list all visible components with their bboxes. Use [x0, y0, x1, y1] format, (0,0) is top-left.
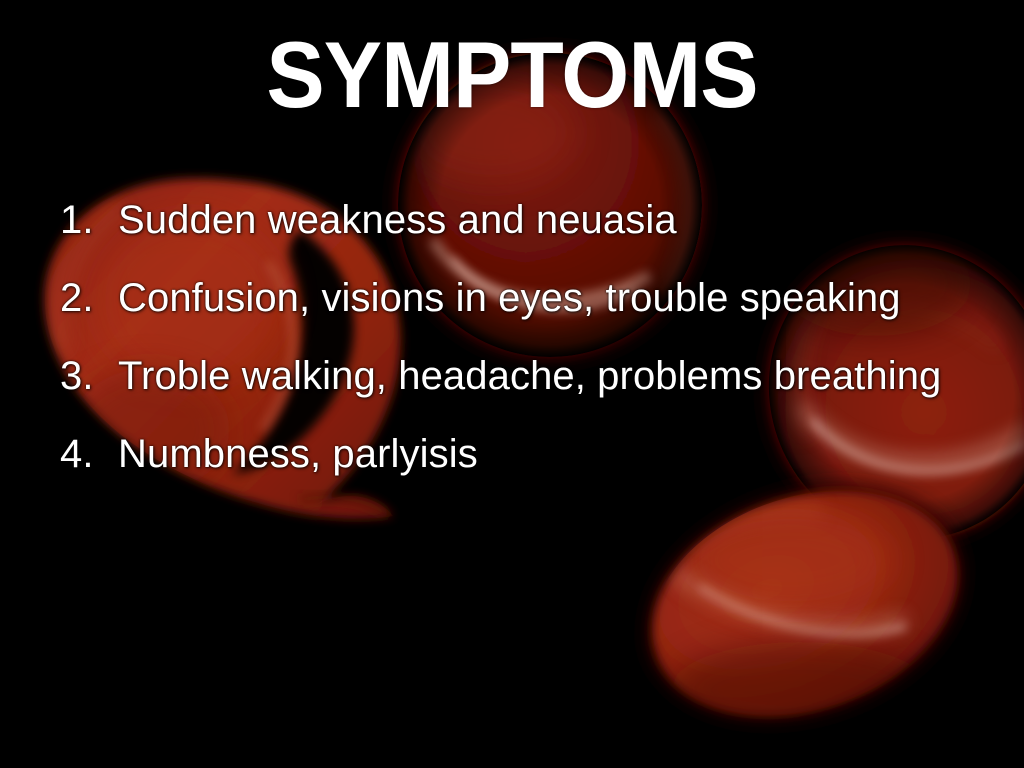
list-item-number: 3.	[56, 352, 118, 400]
list-item-number: 4.	[56, 430, 118, 478]
list-item-label: Sudden weakness and neuasia	[118, 196, 677, 244]
list-item: 3. Troble walking, headache, problems br…	[56, 352, 1006, 430]
list-item: 4. Numbness, parlyisis	[56, 430, 1006, 508]
symptoms-list: 1. Sudden weakness and neuasia 2. Confus…	[56, 196, 1006, 508]
list-item-label: Confusion, visions in eyes, trouble spea…	[118, 274, 901, 322]
list-item: 2. Confusion, visions in eyes, trouble s…	[56, 274, 1006, 352]
list-item-number: 1.	[56, 196, 118, 244]
list-item-label: Numbness, parlyisis	[118, 430, 478, 478]
slide-content: SYMPTOMS 1. Sudden weakness and neuasia …	[0, 0, 1024, 768]
list-item-number: 2.	[56, 274, 118, 322]
list-item-label: Troble walking, headache, problems breat…	[118, 352, 941, 400]
page-title: SYMPTOMS	[36, 28, 988, 122]
presentation-slide: SYMPTOMS 1. Sudden weakness and neuasia …	[0, 0, 1024, 768]
list-item: 1. Sudden weakness and neuasia	[56, 196, 1006, 274]
